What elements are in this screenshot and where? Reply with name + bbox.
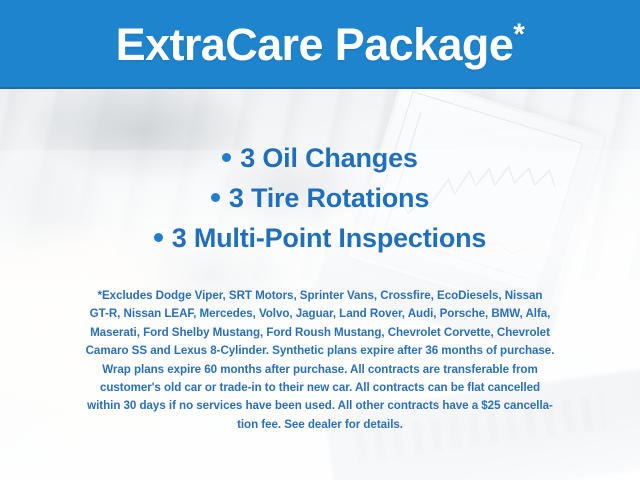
disclaimer-fineprint: *Excludes Dodge Viper, SRT Motors, Sprin… [30,287,610,434]
disclaimer-line: customer's old car or trade-in to their … [30,379,610,397]
disclaimer-line: Wrap plans expire 60 months after purcha… [30,361,610,379]
page-title: ExtraCare Package* [116,22,525,67]
disclaimer-line: within 30 days if no services have been … [30,397,610,415]
header-band: ExtraCare Package* [0,0,640,89]
list-item: 3 Oil Changes [0,138,640,178]
benefit-label: 3 Tire Rotations [229,183,429,213]
disclaimer-line: Maserati, Ford Shelby Mustang, Ford Rous… [30,324,610,342]
bullet-dot-icon [211,193,220,202]
bullet-dot-icon [222,153,231,162]
disclaimer-line: GT-R, Nissan LEAF, Mercedes, Volvo, Jagu… [30,305,610,323]
benefits-list: 3 Oil Changes 3 Tire Rotations 3 Multi-P… [0,138,640,258]
page-title-asterisk: * [513,18,524,51]
list-item: 3 Tire Rotations [0,178,640,218]
disclaimer-line: tion fee. See dealer for details. [30,416,610,434]
disclaimer-line: *Excludes Dodge Viper, SRT Motors, Sprin… [30,287,610,305]
benefit-label: 3 Oil Changes [240,143,417,173]
page-title-text: ExtraCare Package [116,19,514,70]
benefit-label: 3 Multi-Point Inspections [172,223,487,253]
extracare-promo-card: ExtraCare Package* 3 Oil Changes 3 Tire … [0,0,640,480]
disclaimer-line: Camaro SS and Lexus 8-Cylinder. Syntheti… [30,342,610,360]
list-item: 3 Multi-Point Inspections [0,218,640,258]
bullet-dot-icon [154,233,163,242]
